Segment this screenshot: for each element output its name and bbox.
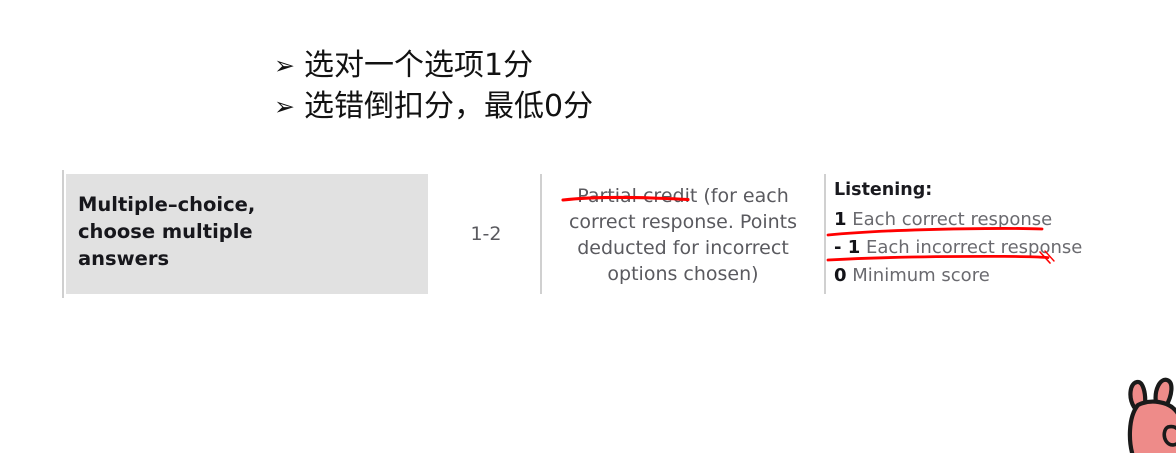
listening-rule-score: 1 xyxy=(834,209,847,230)
scoring-description: Partial credit (for each correct respons… xyxy=(552,183,814,287)
points-value: 1-2 xyxy=(470,223,501,245)
listening-rule-score: - 1 xyxy=(834,237,860,258)
bullet-text: 选对一个选项1分 xyxy=(304,46,533,86)
listening-rule: 1 Each correct response xyxy=(834,206,1084,234)
bullet-text: 选错倒扣分，最低0分 xyxy=(304,87,593,127)
table-cell-question-type: Multiple–choice,choose multipleanswers xyxy=(66,174,428,294)
listening-rule-label: Each incorrect response xyxy=(866,237,1082,258)
bullet-list: ➢ 选对一个选项1分 ➢ 选错倒扣分，最低0分 xyxy=(274,46,794,128)
listening-heading: Listening: xyxy=(834,178,1084,203)
question-type-label: Multiple–choice,choose multipleanswers xyxy=(78,191,428,272)
listening-rule-label: Each correct response xyxy=(852,209,1052,230)
pink-rabbit-character-icon xyxy=(1116,373,1176,453)
arrowhead-bullet-icon: ➢ xyxy=(274,87,304,127)
table-divider xyxy=(824,174,826,294)
table-divider xyxy=(540,174,542,294)
table-left-rule xyxy=(62,170,64,298)
bullet-item: ➢ 选错倒扣分，最低0分 xyxy=(274,87,794,128)
listening-rule-score: 0 xyxy=(834,265,847,286)
listening-rule: 0 Minimum score xyxy=(834,262,1084,290)
slide-canvas: ➢ 选对一个选项1分 ➢ 选错倒扣分，最低0分 Multiple–choice,… xyxy=(0,0,1176,453)
bullet-item: ➢ 选对一个选项1分 xyxy=(274,46,794,87)
table-cell-scoring: Partial credit (for each correct respons… xyxy=(552,183,814,287)
table-cell-points: 1-2 xyxy=(432,174,540,294)
table-cell-listening: Listening: 1 Each correct response - 1 E… xyxy=(834,178,1084,290)
listening-rule-label: Minimum score xyxy=(852,265,990,286)
arrowhead-bullet-icon: ➢ xyxy=(274,46,304,86)
listening-rule: - 1 Each incorrect response xyxy=(834,234,1084,262)
table-row: Multiple–choice,choose multipleanswers 1… xyxy=(62,174,1072,294)
